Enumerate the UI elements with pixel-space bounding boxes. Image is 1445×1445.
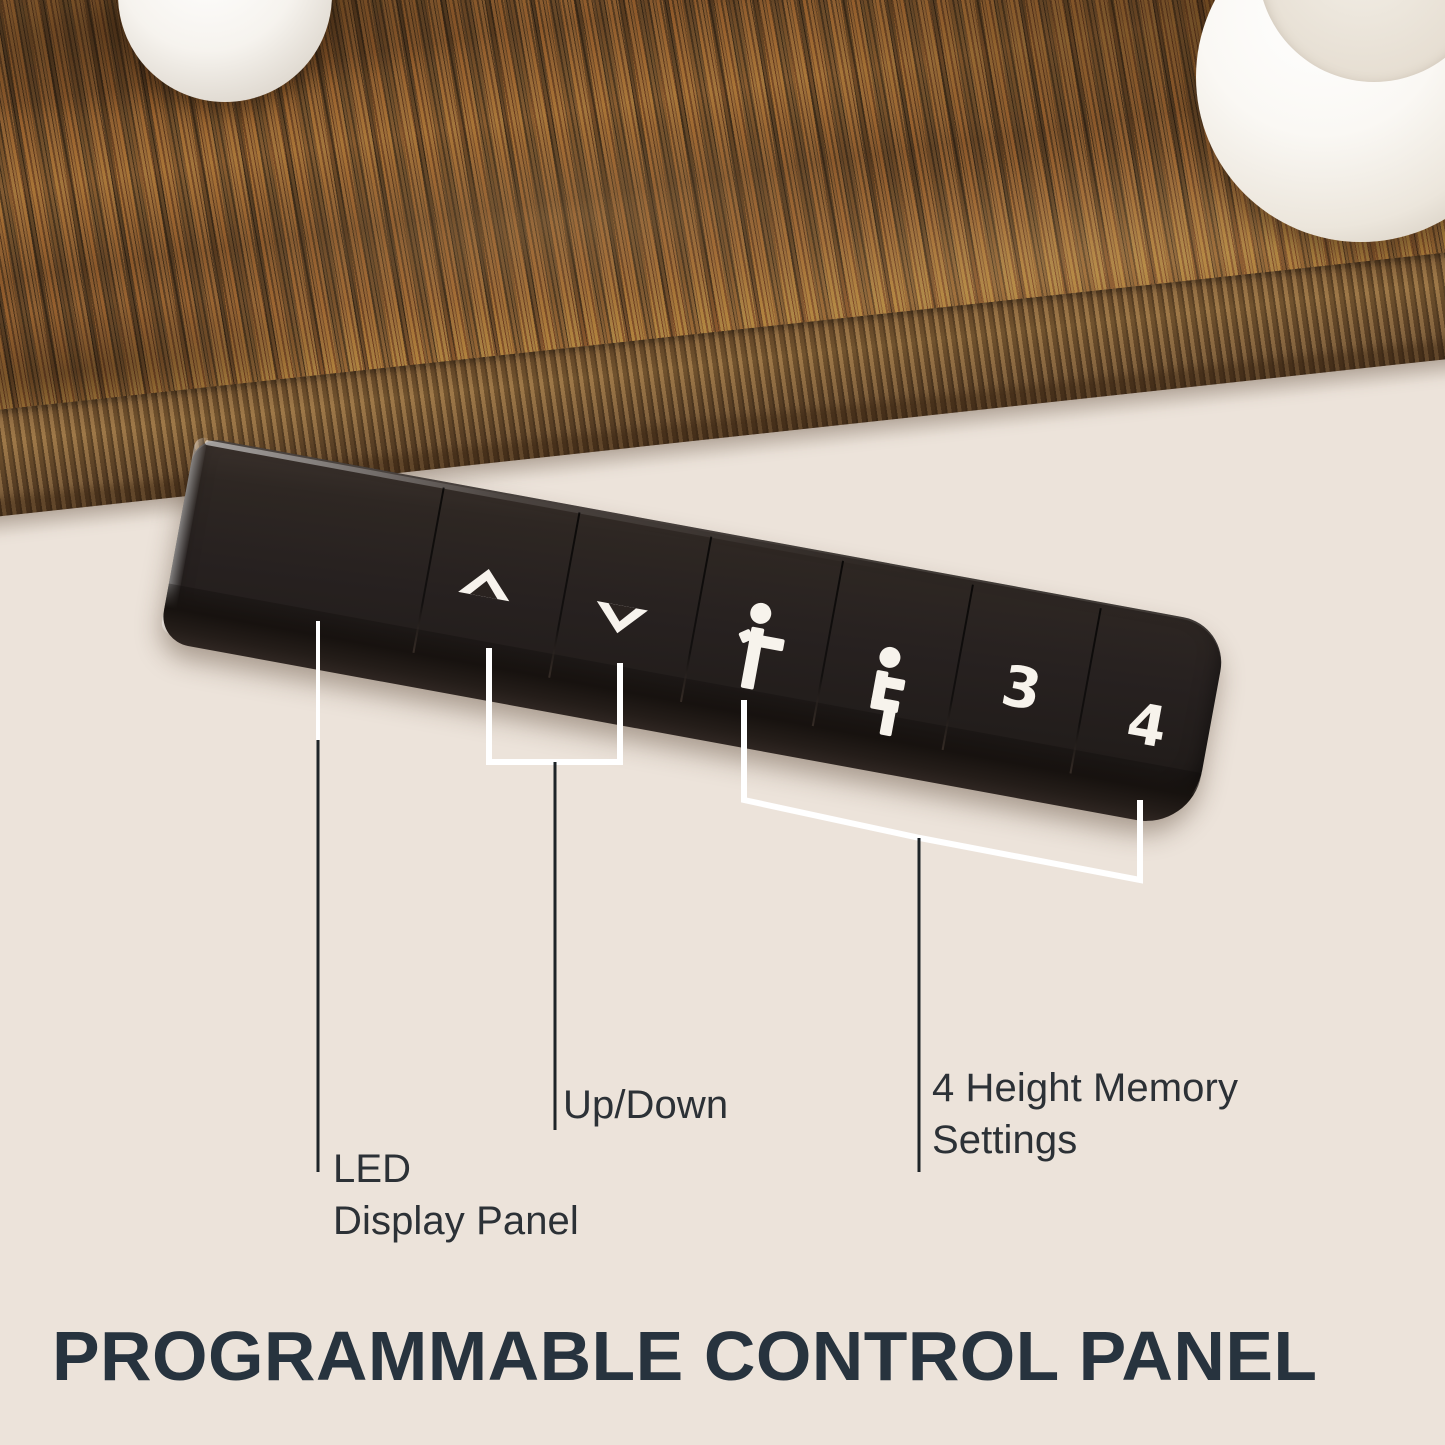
infographic-canvas: 3 4 LED Display Panel Up/Down 4 Height M…: [0, 0, 1445, 1445]
page-title: PROGRAMMABLE CONTROL PANEL: [52, 1316, 1317, 1396]
callout-label-updown: Up/Down: [563, 1079, 728, 1131]
key-separator: [812, 561, 844, 727]
standing-person-icon[interactable]: [723, 599, 791, 699]
preset-3-button[interactable]: 3: [997, 658, 1045, 720]
preset-4-button[interactable]: 4: [1122, 695, 1170, 757]
key-separator: [1069, 608, 1101, 774]
callout-label-led: LED Display Panel: [333, 1143, 579, 1247]
key-separator: [942, 585, 974, 751]
key-separator: [680, 536, 712, 702]
key-separator: [548, 512, 580, 678]
callout-label-memory: 4 Height Memory Settings: [932, 1062, 1238, 1166]
chevron-down-icon[interactable]: [592, 601, 648, 638]
chevron-up-icon[interactable]: [458, 564, 514, 601]
